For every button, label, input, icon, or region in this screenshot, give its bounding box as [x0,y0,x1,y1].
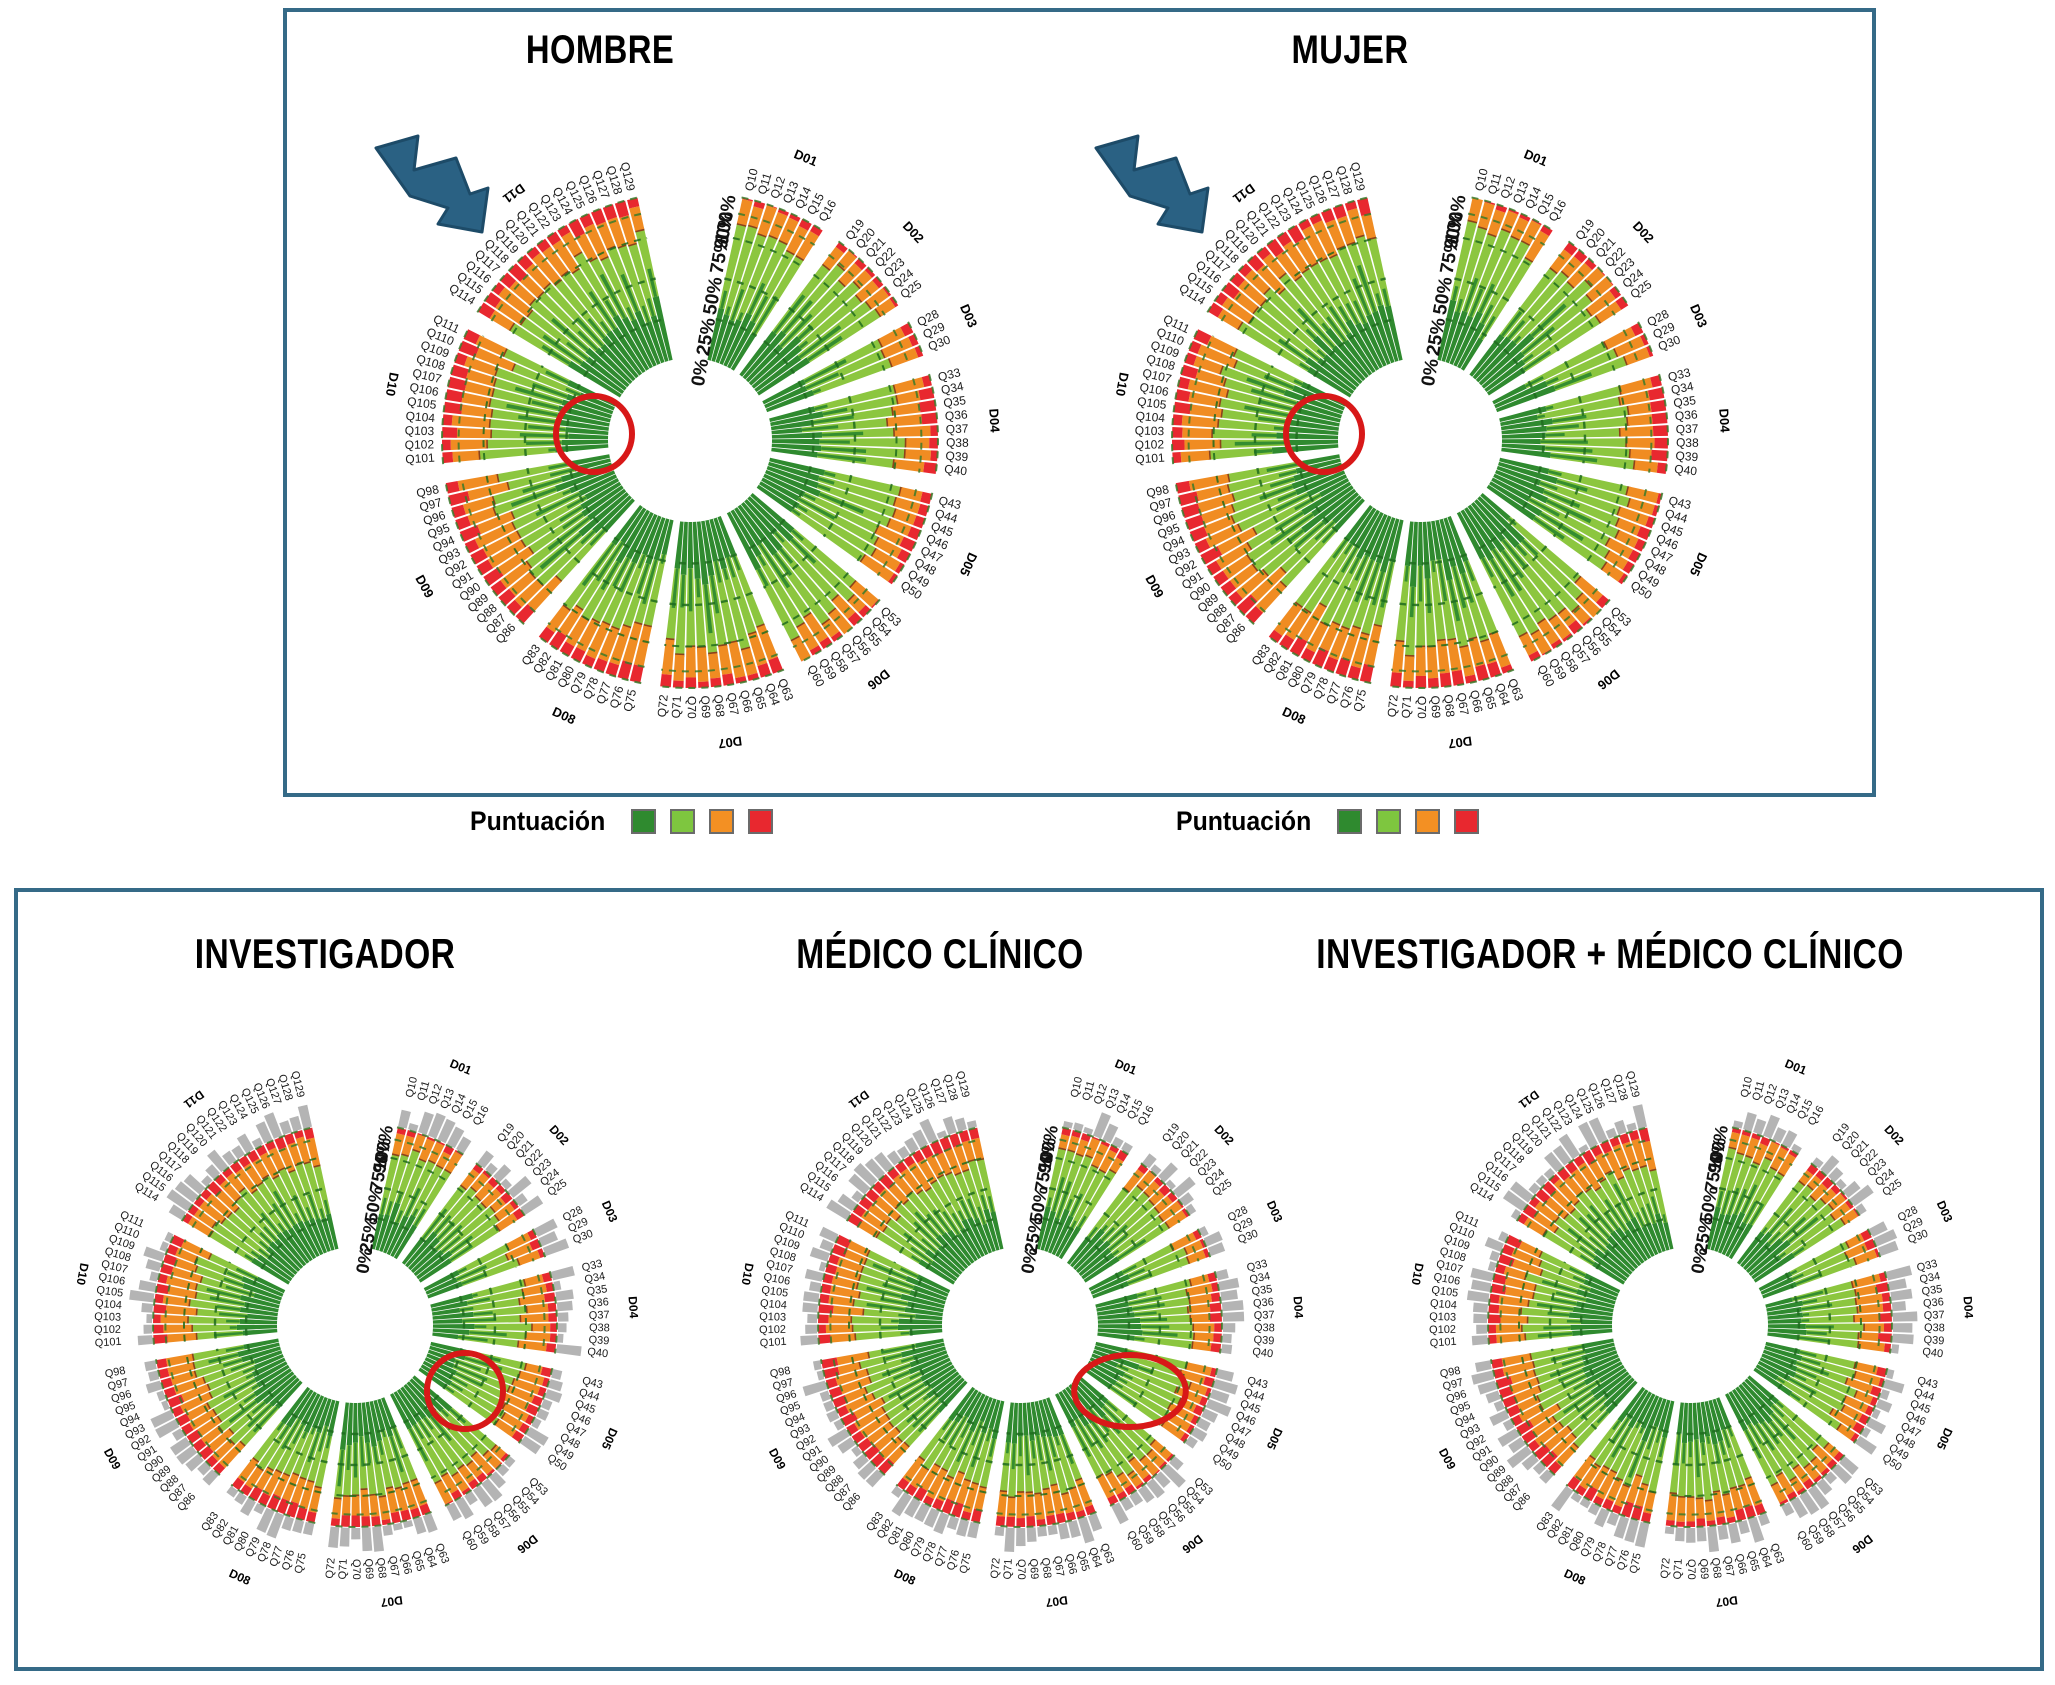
svg-text:D07: D07 [717,733,743,751]
svg-text:Q69: Q69 [362,1558,375,1579]
svg-text:D05: D05 [957,550,980,578]
radial-chart-investigador: Q10Q11Q12Q13Q14Q15Q16D01Q19Q20Q21Q22Q23Q… [35,1000,675,1650]
svg-text:D08: D08 [1280,704,1308,728]
svg-text:D01: D01 [792,146,820,169]
svg-text:Q38: Q38 [946,436,969,450]
svg-text:Q104: Q104 [759,1298,787,1312]
svg-text:Q71: Q71 [1002,1558,1015,1579]
svg-text:D05: D05 [599,1426,621,1452]
legend-swatch-light-green [670,809,695,834]
radial-chart-hombre: Q10Q11Q12Q13Q14Q15Q16D01Q19Q20Q21Q22Q23Q… [330,95,1050,785]
svg-text:Q69: Q69 [1697,1558,1710,1579]
svg-text:Q38: Q38 [589,1322,610,1334]
svg-text:Q102: Q102 [405,437,435,452]
svg-text:Q38: Q38 [1924,1322,1945,1334]
chart-title-mujer: MUJER [1186,28,1514,73]
svg-text:Q103: Q103 [1429,1311,1456,1324]
svg-text:Q101: Q101 [759,1336,787,1350]
svg-text:D04: D04 [1716,408,1733,434]
svg-text:D03: D03 [599,1199,621,1225]
svg-text:D01: D01 [448,1056,474,1077]
svg-text:Q37: Q37 [589,1309,610,1322]
svg-text:D06: D06 [865,666,893,693]
svg-text:Q69: Q69 [698,695,713,719]
chart-title-investigador: INVESTIGADOR [125,930,525,978]
svg-text:D04: D04 [1961,1296,1976,1319]
svg-text:D03: D03 [1264,1199,1286,1225]
legend-swatch-dark-green [1337,809,1362,834]
svg-text:D11: D11 [846,1087,872,1111]
svg-text:D10: D10 [1113,371,1132,397]
figure-root: HOMBRE MUJER Q10Q11Q12Q13Q14Q15Q16D01Q19… [0,0,2055,1685]
svg-text:Q70: Q70 [1685,1559,1697,1580]
svg-text:Q40: Q40 [587,1346,609,1360]
svg-text:D08: D08 [1562,1566,1588,1588]
svg-text:D11: D11 [1516,1087,1542,1111]
svg-text:Q70: Q70 [1415,696,1429,719]
svg-text:D01: D01 [1522,146,1550,169]
svg-text:D05: D05 [1687,550,1710,578]
svg-text:Q103: Q103 [94,1311,121,1324]
chart-title-investigador-medico: INVESTIGADOR + MÉDICO CLÍNICO [1306,930,1914,978]
svg-text:D09: D09 [412,572,437,600]
svg-text:D01: D01 [1113,1056,1139,1077]
svg-text:Q102: Q102 [94,1324,121,1337]
svg-text:D03: D03 [1934,1199,1956,1225]
svg-text:Q37: Q37 [1924,1309,1945,1322]
svg-text:D10: D10 [1409,1262,1427,1287]
svg-text:D07: D07 [380,1593,404,1610]
legend-swatch-dark-green [631,809,656,834]
svg-text:Q38: Q38 [1676,436,1699,450]
svg-text:Q103: Q103 [1135,423,1165,438]
svg-text:D06: D06 [1849,1532,1875,1557]
svg-text:D02: D02 [1881,1122,1906,1148]
svg-text:D09: D09 [1436,1446,1459,1472]
svg-text:Q102: Q102 [1429,1324,1456,1337]
svg-text:Q68: Q68 [1039,1557,1053,1579]
legend-swatch-red [1454,809,1479,834]
svg-text:D02: D02 [1211,1122,1236,1148]
legend-label: Puntuación [1176,806,1311,837]
svg-text:D01: D01 [1783,1056,1809,1077]
svg-text:D02: D02 [900,218,927,246]
svg-text:D02: D02 [546,1122,571,1148]
svg-text:Q71: Q71 [337,1558,350,1579]
svg-text:D10: D10 [739,1262,757,1287]
svg-text:Q70: Q70 [350,1559,362,1580]
svg-text:Q72: Q72 [655,694,671,718]
chart-title-hombre: HOMBRE [436,28,764,73]
svg-text:D08: D08 [227,1566,253,1588]
svg-text:Q101: Q101 [94,1336,122,1350]
svg-text:D04: D04 [626,1296,641,1319]
svg-text:D11: D11 [500,181,528,207]
legend-hombre: Puntuación [470,806,773,837]
svg-text:Q104: Q104 [1429,1298,1457,1312]
svg-text:Q72: Q72 [1659,1557,1673,1579]
svg-text:Q40: Q40 [1252,1346,1274,1360]
legend-swatch-red [748,809,773,834]
svg-text:D07: D07 [1447,733,1473,751]
svg-text:Q36: Q36 [588,1296,610,1310]
svg-text:Q71: Q71 [669,695,684,719]
svg-text:Q70: Q70 [1015,1559,1027,1580]
svg-text:Q103: Q103 [759,1311,786,1324]
svg-text:D09: D09 [101,1446,124,1472]
svg-text:D08: D08 [550,704,578,728]
svg-text:D03: D03 [1687,302,1710,330]
svg-text:Q36: Q36 [1923,1296,1945,1310]
svg-text:D06: D06 [1179,1532,1205,1557]
svg-text:Q38: Q38 [1254,1322,1275,1334]
svg-text:Q37: Q37 [1675,421,1699,436]
svg-text:Q68: Q68 [1709,1557,1723,1579]
svg-text:D11: D11 [1230,181,1258,207]
legend-swatch-orange [709,809,734,834]
svg-text:D10: D10 [74,1262,92,1287]
svg-text:D03: D03 [957,302,980,330]
legend-mujer: Puntuación [1176,806,1479,837]
svg-text:Q69: Q69 [1027,1558,1040,1579]
svg-text:D07: D07 [1045,1593,1069,1610]
svg-text:Q72: Q72 [989,1557,1003,1579]
legend-label: Puntuación [470,806,605,837]
svg-text:D09: D09 [766,1446,789,1472]
radial-chart-mujer: Q10Q11Q12Q13Q14Q15Q16D01Q19Q20Q21Q22Q23Q… [1060,95,1780,785]
svg-text:D10: D10 [383,371,402,397]
svg-text:Q37: Q37 [945,421,969,436]
svg-text:Q70: Q70 [685,696,699,719]
svg-text:Q102: Q102 [759,1324,786,1337]
legend-swatch-light-green [1376,809,1401,834]
radial-chart-medico: Q10Q11Q12Q13Q14Q15Q16D01Q19Q20Q21Q22Q23Q… [700,1000,1340,1650]
svg-text:Q104: Q104 [94,1298,122,1312]
svg-text:Q68: Q68 [374,1557,388,1579]
svg-text:D08: D08 [892,1566,918,1588]
chart-title-medico: MÉDICO CLÍNICO [740,930,1140,978]
svg-text:Q36: Q36 [1253,1296,1275,1310]
svg-text:Q71: Q71 [1672,1558,1685,1579]
svg-text:D02: D02 [1630,218,1657,246]
svg-text:Q40: Q40 [944,462,968,479]
svg-text:Q69: Q69 [1428,695,1443,719]
svg-text:Q40: Q40 [1674,462,1698,479]
svg-text:Q72: Q72 [324,1557,338,1579]
svg-text:D05: D05 [1264,1426,1286,1452]
svg-text:Q101: Q101 [405,450,436,466]
svg-text:Q101: Q101 [1429,1336,1457,1350]
svg-text:Q103: Q103 [405,423,435,438]
svg-text:Q102: Q102 [1135,437,1165,452]
svg-text:D06: D06 [514,1532,540,1557]
svg-text:D04: D04 [1291,1296,1306,1319]
svg-text:Q40: Q40 [1922,1346,1944,1360]
svg-text:Q101: Q101 [1135,450,1166,466]
svg-text:Q71: Q71 [1399,695,1414,719]
radial-chart-investigador-medico: Q10Q11Q12Q13Q14Q15Q16D01Q19Q20Q21Q22Q23Q… [1370,1000,2010,1650]
svg-text:D07: D07 [1715,1593,1739,1610]
svg-text:Q72: Q72 [1385,694,1401,718]
svg-text:D05: D05 [1934,1426,1956,1452]
legend-swatch-orange [1415,809,1440,834]
svg-text:D04: D04 [986,408,1003,434]
svg-text:Q37: Q37 [1254,1309,1275,1322]
svg-text:D06: D06 [1595,666,1623,693]
svg-text:D09: D09 [1142,572,1167,600]
svg-text:D11: D11 [181,1087,207,1111]
